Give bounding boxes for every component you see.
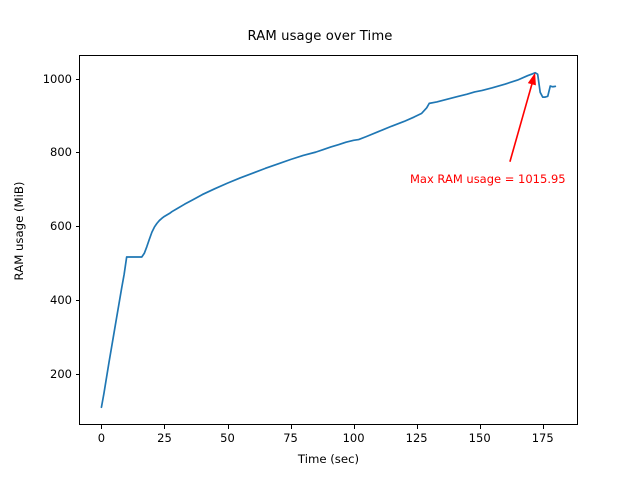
y-tick-mark: [76, 226, 80, 227]
matplotlib-figure: RAM usage over Time 2004006008001000 025…: [0, 0, 640, 480]
x-tick-mark: [480, 425, 481, 429]
annotation-arrow-shaft: [510, 81, 533, 161]
plot-area: 2004006008001000 0255075100125150175: [79, 55, 578, 425]
x-tick-mark: [228, 425, 229, 429]
y-tick-mark: [76, 152, 80, 153]
x-tick-mark: [291, 425, 292, 429]
y-tick-mark: [76, 374, 80, 375]
x-tick-label: 150: [469, 431, 491, 445]
x-tick-mark: [164, 425, 165, 429]
x-axis-label: Time (sec): [79, 452, 578, 466]
x-tick-mark: [417, 425, 418, 429]
y-tick-label: 400: [50, 293, 72, 307]
y-tick-label: 1000: [43, 72, 72, 86]
x-tick-label: 25: [157, 431, 172, 445]
x-tick-label: 100: [343, 431, 365, 445]
ram-usage-line: [101, 73, 555, 408]
max-ram-annotation-label: Max RAM usage = 1015.95: [410, 172, 566, 186]
page-title: RAM usage over Time: [0, 29, 640, 44]
x-tick-label: 50: [220, 431, 235, 445]
y-tick-mark: [76, 79, 80, 80]
y-tick-label: 800: [50, 145, 72, 159]
y-tick-label: 200: [50, 367, 72, 381]
x-tick-mark: [354, 425, 355, 429]
plot-canvas: [79, 55, 578, 425]
x-tick-label: 175: [532, 431, 554, 445]
y-tick-label: 600: [50, 219, 72, 233]
x-tick-mark: [101, 425, 102, 429]
x-tick-mark: [543, 425, 544, 429]
x-tick-label: 75: [283, 431, 298, 445]
x-tick-label: 0: [98, 431, 105, 445]
y-axis-label: RAM usage (MiB): [12, 151, 26, 311]
y-tick-mark: [76, 300, 80, 301]
x-tick-label: 125: [406, 431, 428, 445]
